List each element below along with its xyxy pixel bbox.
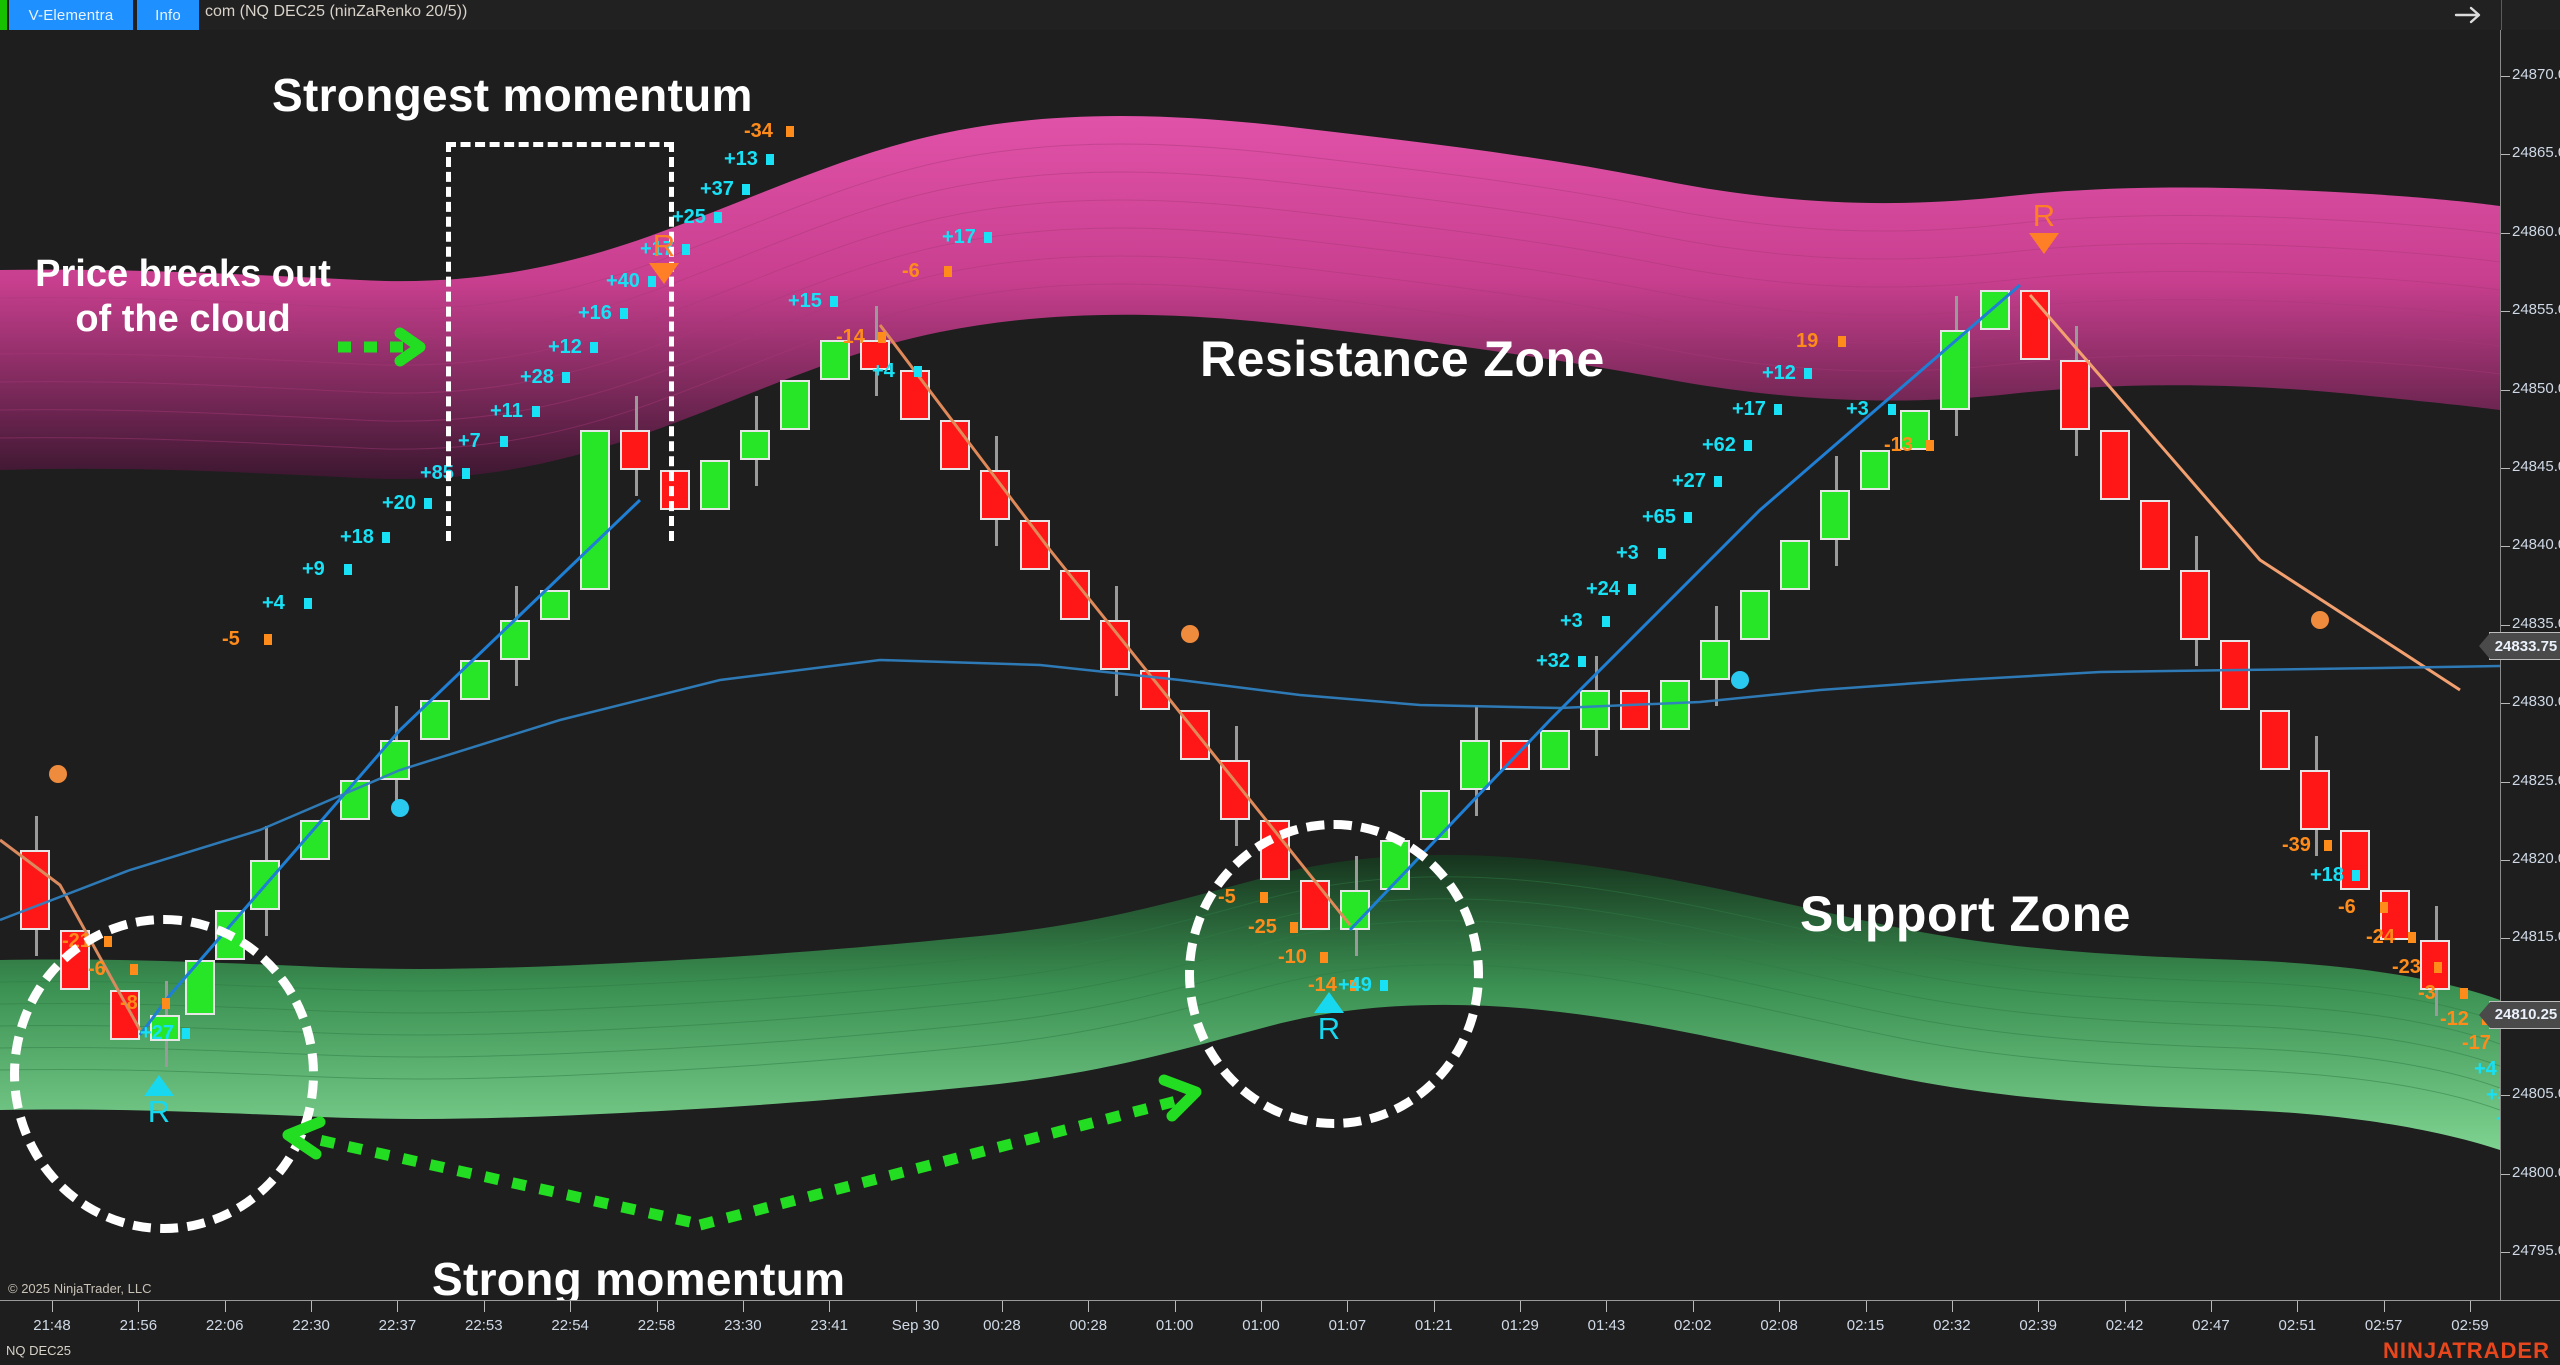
tick-mark [1866, 1301, 1867, 1312]
price-tick-label: 24860.00 [2512, 223, 2560, 240]
instrument-label: NQ DEC25 [6, 1343, 71, 1358]
reversal-letter: R [135, 1096, 183, 1129]
time-tick-label: 01:21 [1415, 1317, 1453, 1334]
triangle-up-icon [144, 1075, 174, 1096]
breakout-line-1: Price breaks out [18, 252, 348, 297]
time-tick-label: 00:28 [1070, 1317, 1108, 1334]
triangle-down-icon [2029, 233, 2059, 254]
annotation-price-breakout: Price breaks out of the cloud [18, 252, 348, 342]
tick-mark [2501, 1252, 2510, 1253]
time-tick-label: 02:47 [2192, 1317, 2230, 1334]
tick-mark [2384, 1301, 2385, 1312]
arrow-to-left-circle-icon [288, 1122, 690, 1222]
tick-mark [2470, 1301, 2471, 1312]
chart-window: V-Elementra Info com (NQ DEC25 (ninZaRen… [0, 0, 2560, 1365]
time-tick-label: Sep 30 [892, 1317, 940, 1334]
tick-mark [2501, 468, 2510, 469]
tick-mark [1434, 1301, 1435, 1312]
price-tick-label: 24815.00 [2512, 928, 2560, 945]
tick-mark [2501, 782, 2510, 783]
time-tick-label: 22:30 [292, 1317, 330, 1334]
tick-mark [311, 1301, 312, 1312]
chart-plot-area[interactable]: -21-6-8+27-5+4+9+18+20+85+7+11+28+12+16+… [0, 30, 2500, 1300]
green-arrow-group [0, 30, 2500, 1300]
tick-mark [225, 1301, 226, 1312]
time-axis[interactable]: 21:4821:5622:0622:3022:3722:5322:5422:58… [0, 1300, 2560, 1365]
tick-mark [484, 1301, 485, 1312]
tick-mark [2501, 703, 2510, 704]
toolbar-divider [2501, 0, 2502, 30]
tick-mark [138, 1301, 139, 1312]
reversal-marker-right: R [2020, 200, 2068, 254]
price-tick-label: 24805.00 [2512, 1085, 2560, 1102]
tab-v-elementra[interactable]: V-Elementra [9, 0, 133, 30]
price-tick-label: 24820.00 [2512, 850, 2560, 867]
time-tick-label: 01:00 [1156, 1317, 1194, 1334]
chart-toolbar: V-Elementra Info com (NQ DEC25 (ninZaRen… [0, 0, 2560, 30]
tick-mark [52, 1301, 53, 1312]
tick-mark [397, 1301, 398, 1312]
time-tick-label: 22:54 [551, 1317, 589, 1334]
reversal-letter: R [2020, 200, 2068, 233]
tick-mark [2501, 154, 2510, 155]
time-tick-label: 02:59 [2451, 1317, 2489, 1334]
time-tick-label: 02:32 [1933, 1317, 1971, 1334]
time-tick-label: 02:51 [2279, 1317, 2317, 1334]
time-tick-label: 22:37 [379, 1317, 417, 1334]
time-tick-label: 22:58 [638, 1317, 676, 1334]
price-tick-label: 24830.00 [2512, 693, 2560, 710]
time-tick-label: 02:08 [1760, 1317, 1798, 1334]
tick-mark [2501, 1095, 2510, 1096]
annotation-strong-momentum: Strong momentum [432, 1252, 845, 1300]
tick-mark [1002, 1301, 1003, 1312]
tick-mark [2038, 1301, 2039, 1312]
time-tick-label: 02:42 [2106, 1317, 2144, 1334]
price-axis[interactable]: 24870.0024865.0024860.0024855.0024850.00… [2500, 30, 2560, 1300]
price-tick-label: 24825.00 [2512, 772, 2560, 789]
arrow-breakout-icon [338, 333, 420, 361]
time-tick-label: 01:00 [1242, 1317, 1280, 1334]
triangle-up-icon [1314, 992, 1344, 1013]
tick-mark [829, 1301, 830, 1312]
triangle-down-icon [649, 263, 679, 284]
price-tick-label: 24845.00 [2512, 458, 2560, 475]
time-tick-label: 23:30 [724, 1317, 762, 1334]
tick-mark [2125, 1301, 2126, 1312]
tick-mark [1347, 1301, 1348, 1312]
tick-mark [2501, 233, 2510, 234]
reversal-marker-top: R [640, 230, 688, 284]
time-tick-label: 21:56 [120, 1317, 158, 1334]
tick-mark [2297, 1301, 2298, 1312]
time-tick-label: 00:28 [983, 1317, 1021, 1334]
time-tick-label: 22:53 [465, 1317, 503, 1334]
tick-mark [2501, 1174, 2510, 1175]
tick-mark [2501, 938, 2510, 939]
tick-mark [2501, 625, 2510, 626]
price-tick-label: 24795.00 [2512, 1242, 2560, 1259]
status-indicator-bar [0, 0, 7, 30]
tick-mark [1088, 1301, 1089, 1312]
arrow-to-middle-circle-icon [700, 1080, 1196, 1225]
price-tick-label: 24835.00 [2512, 615, 2560, 632]
time-tick-label: 02:57 [2365, 1317, 2403, 1334]
annotation-strongest-momentum: Strongest momentum [272, 68, 753, 122]
time-tick-label: 01:43 [1588, 1317, 1626, 1334]
tick-mark [1693, 1301, 1694, 1312]
tick-mark [743, 1301, 744, 1312]
tick-mark [2211, 1301, 2212, 1312]
tick-mark [657, 1301, 658, 1312]
tick-mark [2501, 390, 2510, 391]
tick-mark [2501, 546, 2510, 547]
tick-mark [1175, 1301, 1176, 1312]
tick-mark [1779, 1301, 1780, 1312]
price-tick-label: 24800.00 [2512, 1164, 2560, 1181]
time-tick-label: 21:48 [33, 1317, 71, 1334]
time-tick-label: 02:39 [2019, 1317, 2057, 1334]
time-tick-label: 01:07 [1329, 1317, 1367, 1334]
tick-mark [1261, 1301, 1262, 1312]
reversal-marker-left: R [135, 1075, 183, 1129]
tick-mark [1606, 1301, 1607, 1312]
ninjatrader-watermark: NINJATRADER [2383, 1338, 2550, 1364]
time-tick-label: 23:41 [810, 1317, 848, 1334]
reversal-letter: R [1305, 1013, 1353, 1046]
tick-mark [2501, 76, 2510, 77]
tick-mark [570, 1301, 571, 1312]
tick-mark [1952, 1301, 1953, 1312]
time-tick-label: 22:06 [206, 1317, 244, 1334]
time-tick-label: 01:29 [1501, 1317, 1539, 1334]
price-tick-label: 24870.00 [2512, 66, 2560, 83]
tick-mark [2501, 311, 2510, 312]
price-tick-label: 24865.00 [2512, 144, 2560, 161]
last-price-marker: 24810.25 [2489, 1001, 2560, 1029]
tab-info[interactable]: Info [137, 0, 199, 30]
price-tick-label: 24840.00 [2512, 536, 2560, 553]
annotation-resistance-zone: Resistance Zone [1200, 330, 1605, 388]
reversal-marker-middle: R [1305, 992, 1353, 1046]
copyright-notice: © 2025 NinjaTrader, LLC [8, 1281, 152, 1296]
price-tick-label: 24855.00 [2512, 301, 2560, 318]
time-tick-label: 02:15 [1847, 1317, 1885, 1334]
tick-mark [916, 1301, 917, 1312]
arrow-right-icon[interactable] [2448, 2, 2488, 28]
tick-mark [2501, 860, 2510, 861]
tick-mark [1520, 1301, 1521, 1312]
reversal-letter: R [640, 230, 688, 263]
time-tick-label: 02:02 [1674, 1317, 1712, 1334]
chart-title: com (NQ DEC25 (ninZaRenko 20/5)) [205, 3, 467, 21]
upper-price-marker: 24833.75 [2489, 632, 2560, 660]
breakout-line-2: of the cloud [18, 297, 348, 342]
price-tick-label: 24850.00 [2512, 380, 2560, 397]
annotation-support-zone: Support Zone [1800, 885, 2131, 943]
